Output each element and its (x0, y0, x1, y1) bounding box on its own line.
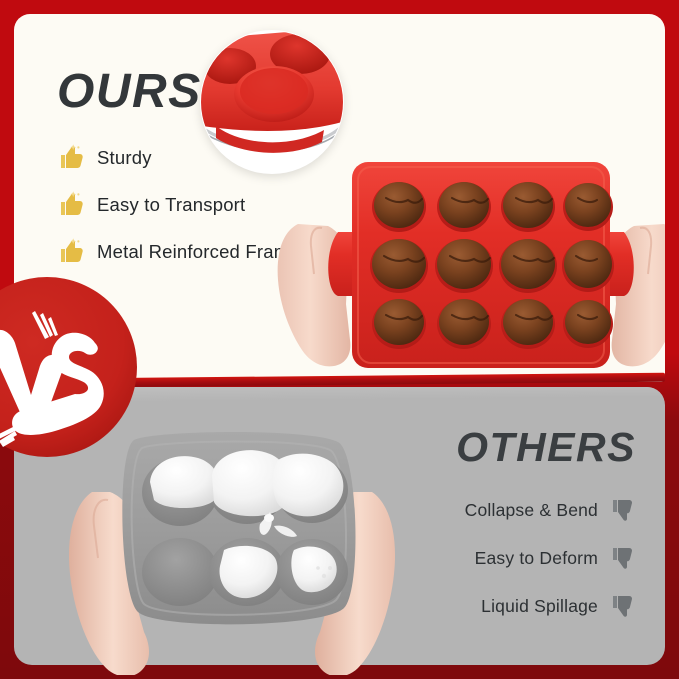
others-feature-item: Liquid Spillage (481, 594, 635, 619)
ours-feature-item: Easy to Transport (58, 191, 300, 218)
thumbs-down-icon (611, 546, 635, 571)
ours-feature-label: Easy to Transport (97, 194, 245, 216)
ours-feature-label: Sturdy (97, 147, 152, 169)
vs-badge (0, 277, 138, 458)
thumbs-up-icon (58, 191, 84, 218)
others-feature-label: Collapse & Bend (465, 500, 598, 521)
comparison-poster: OURS Sturdy (0, 0, 679, 679)
red-muffin-tray-image (276, 154, 665, 379)
ours-feature-item: Metal Reinforced Frame (58, 238, 300, 265)
ours-feature-label: Metal Reinforced Frame (97, 241, 300, 263)
thumbs-down-icon (611, 498, 635, 523)
others-feature-item: Easy to Deform (475, 546, 635, 571)
thumbs-down-icon (611, 594, 635, 619)
thumbs-up-icon (58, 238, 84, 265)
metal-frame-closeup-inset (200, 30, 344, 174)
others-feature-list: Collapse & Bend Easy to Deform Liquid Sp… (465, 498, 635, 619)
others-feature-label: Easy to Deform (475, 548, 598, 569)
others-title: OTHERS (456, 424, 636, 470)
others-feature-label: Liquid Spillage (481, 596, 598, 617)
ours-title: OURS (57, 66, 202, 118)
thumbs-up-icon (58, 144, 84, 171)
others-feature-item: Collapse & Bend (465, 498, 635, 523)
